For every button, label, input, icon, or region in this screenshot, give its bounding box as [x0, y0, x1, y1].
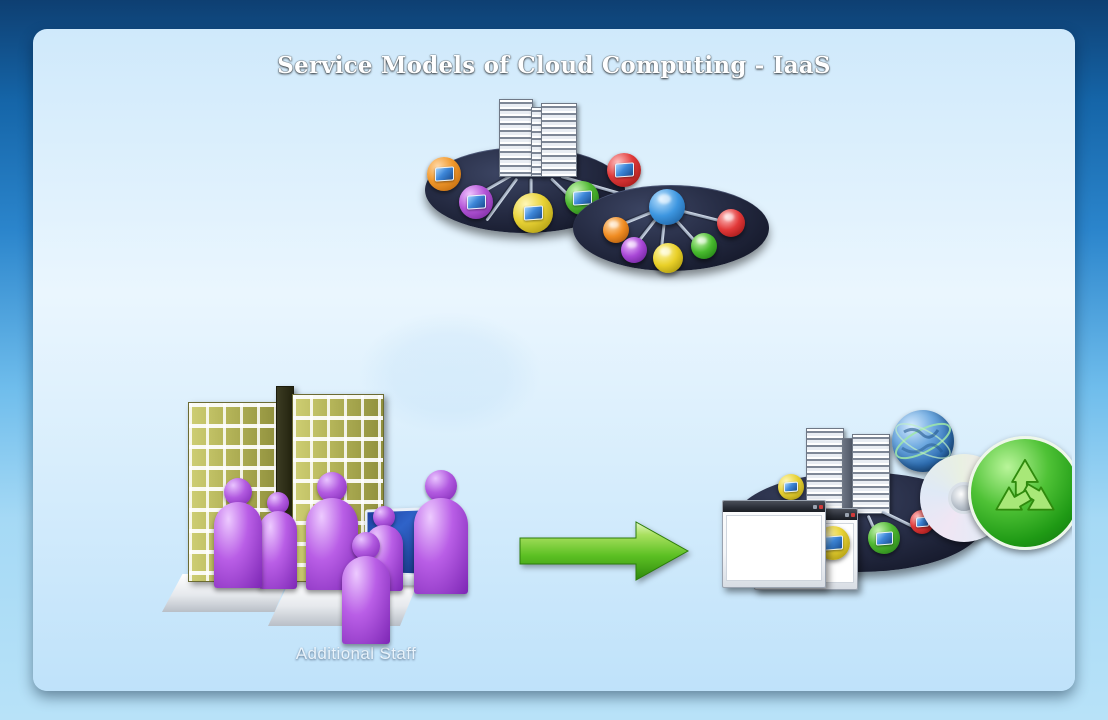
staff-body: [259, 511, 297, 589]
staff-figure: [412, 470, 470, 592]
page-title: Service Models of Cloud Computing - IaaS: [36, 52, 1072, 79]
monitor-node-red: [607, 153, 641, 187]
sphere-yellow: [653, 243, 683, 273]
office-tower: [499, 99, 533, 177]
staff-body: [414, 498, 468, 594]
monitor-screen: [876, 531, 893, 545]
monitor-node-green: [868, 522, 900, 554]
minimize-icon[interactable]: [813, 505, 817, 509]
close-icon[interactable]: [851, 513, 855, 517]
sphere-green: [691, 233, 717, 259]
window-titlebar: [723, 501, 825, 512]
monitor-screen: [615, 162, 634, 177]
staff-figure: [340, 532, 392, 644]
server-building: [852, 434, 890, 514]
recycle-icon: [968, 436, 1072, 550]
sphere-purple: [621, 237, 647, 263]
office-tower: [541, 103, 577, 177]
slide-canvas: Service Models of Cloud Computing - IaaS: [36, 32, 1072, 688]
arrow-shape: [520, 522, 688, 580]
iaas-infrastructure-stack: [696, 410, 1072, 630]
monitor-node-orange: [427, 157, 461, 191]
hub-sphere-blue: [649, 189, 685, 225]
cloud-datacenter-network: [421, 97, 761, 287]
staff-figure: [258, 492, 298, 588]
application-window-front[interactable]: [722, 500, 826, 588]
monitor-screen: [824, 535, 843, 550]
monitor-screen: [467, 194, 486, 209]
staff-body: [214, 502, 262, 588]
staff-body: [342, 556, 390, 644]
monitor-node-yellow: [778, 474, 804, 500]
monitor-screen: [784, 482, 798, 493]
close-icon[interactable]: [819, 505, 823, 509]
staff-figure: [212, 478, 264, 588]
monitor-node-yellow: [513, 193, 553, 233]
monitor-screen: [524, 205, 543, 220]
recycle-arrows: [979, 447, 1071, 539]
monitor-node-purple: [459, 185, 493, 219]
transition-arrow: [518, 520, 690, 582]
staff-caption: Additional Staff: [196, 644, 516, 664]
desktop-background: Service Models of Cloud Computing - IaaS: [0, 0, 1108, 720]
slide-frame: Service Models of Cloud Computing - IaaS: [33, 29, 1075, 691]
monitor-screen: [435, 166, 454, 181]
sphere-red: [717, 209, 745, 237]
enterprise-with-staff: [156, 382, 516, 682]
minimize-icon[interactable]: [845, 513, 849, 517]
window-content: [726, 515, 822, 581]
